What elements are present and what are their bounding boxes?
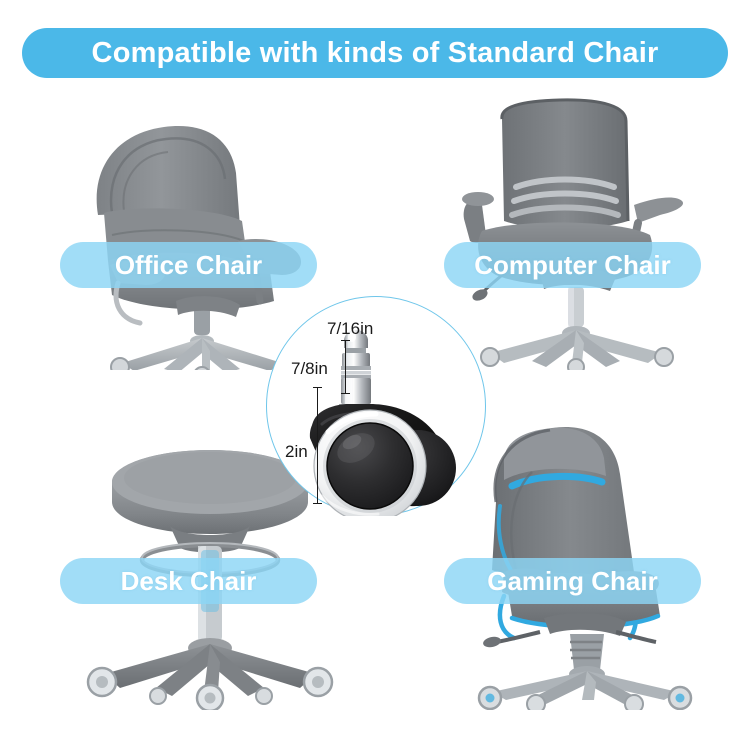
caster-wheel-illustration [266,296,486,516]
dimension-wheel-diameter: 2in [285,443,308,460]
dimension-stem-length: 7/8in [291,360,328,377]
chair-label-office-text: Office Chair [115,252,262,278]
chair-label-office: Office Chair [60,242,317,288]
chair-label-desk-text: Desk Chair [121,568,257,594]
chair-label-computer-text: Computer Chair [474,252,670,278]
stem-length-leader-tick-bottom [341,393,350,394]
wheel-diameter-leader-line [317,387,318,504]
chair-label-computer: Computer Chair [444,242,701,288]
product-infographic: Compatible with kinds of Standard Chair [0,0,750,750]
wheel-diameter-leader-tick-bottom [313,503,322,504]
wheel-diameter-leader-tick-top [313,387,322,388]
chair-label-desk: Desk Chair [60,558,317,604]
chair-label-gaming: Gaming Chair [444,558,701,604]
banner-title: Compatible with kinds of Standard Chair [92,39,659,68]
chair-label-gaming-text: Gaming Chair [487,568,657,594]
caster-wheel-group [266,296,486,516]
stem-length-leader-tick-top [341,340,350,341]
dimension-stem-diameter: 7/16in [327,320,373,337]
stem-length-leader-line [345,340,346,394]
header-banner: Compatible with kinds of Standard Chair [22,28,728,78]
